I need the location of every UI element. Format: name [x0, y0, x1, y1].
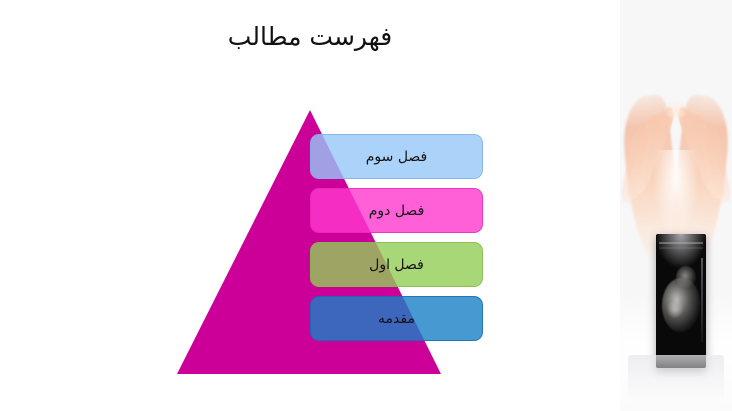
ultrasound-device-icon — [656, 234, 706, 368]
screen-glow — [656, 234, 706, 268]
pyramid-level-label: فصل دوم — [369, 202, 425, 220]
fingertip-highlight — [663, 100, 689, 118]
side-photo-panel — [620, 0, 732, 411]
pyramid-level-introduction[interactable]: مقدمه — [310, 296, 483, 341]
hands-ultrasound-illustration — [620, 0, 732, 411]
scan-line-top — [659, 242, 703, 244]
pyramid-level-label: مقدمه — [378, 310, 415, 328]
pyramid-level-chapter-three[interactable]: فصل سوم — [310, 134, 483, 179]
device-side-rail — [701, 258, 703, 342]
scan-line-second — [659, 247, 703, 249]
pyramid-level-label: فصل سوم — [366, 148, 428, 166]
pyramid-level-label: فصل اول — [369, 256, 424, 274]
pyramid-level-chapter-one[interactable]: فصل اول — [310, 242, 483, 287]
palm-highlight — [653, 150, 699, 240]
presentation-slide: فهرست مطالب فصل سوم فصل دوم فصل اول مقدم… — [0, 0, 732, 411]
pyramid-level-chapter-two[interactable]: فصل دوم — [310, 188, 483, 233]
table-reflection — [628, 355, 724, 401]
pyramid-diagram: فصل سوم فصل دوم فصل اول مقدمه — [0, 0, 620, 411]
